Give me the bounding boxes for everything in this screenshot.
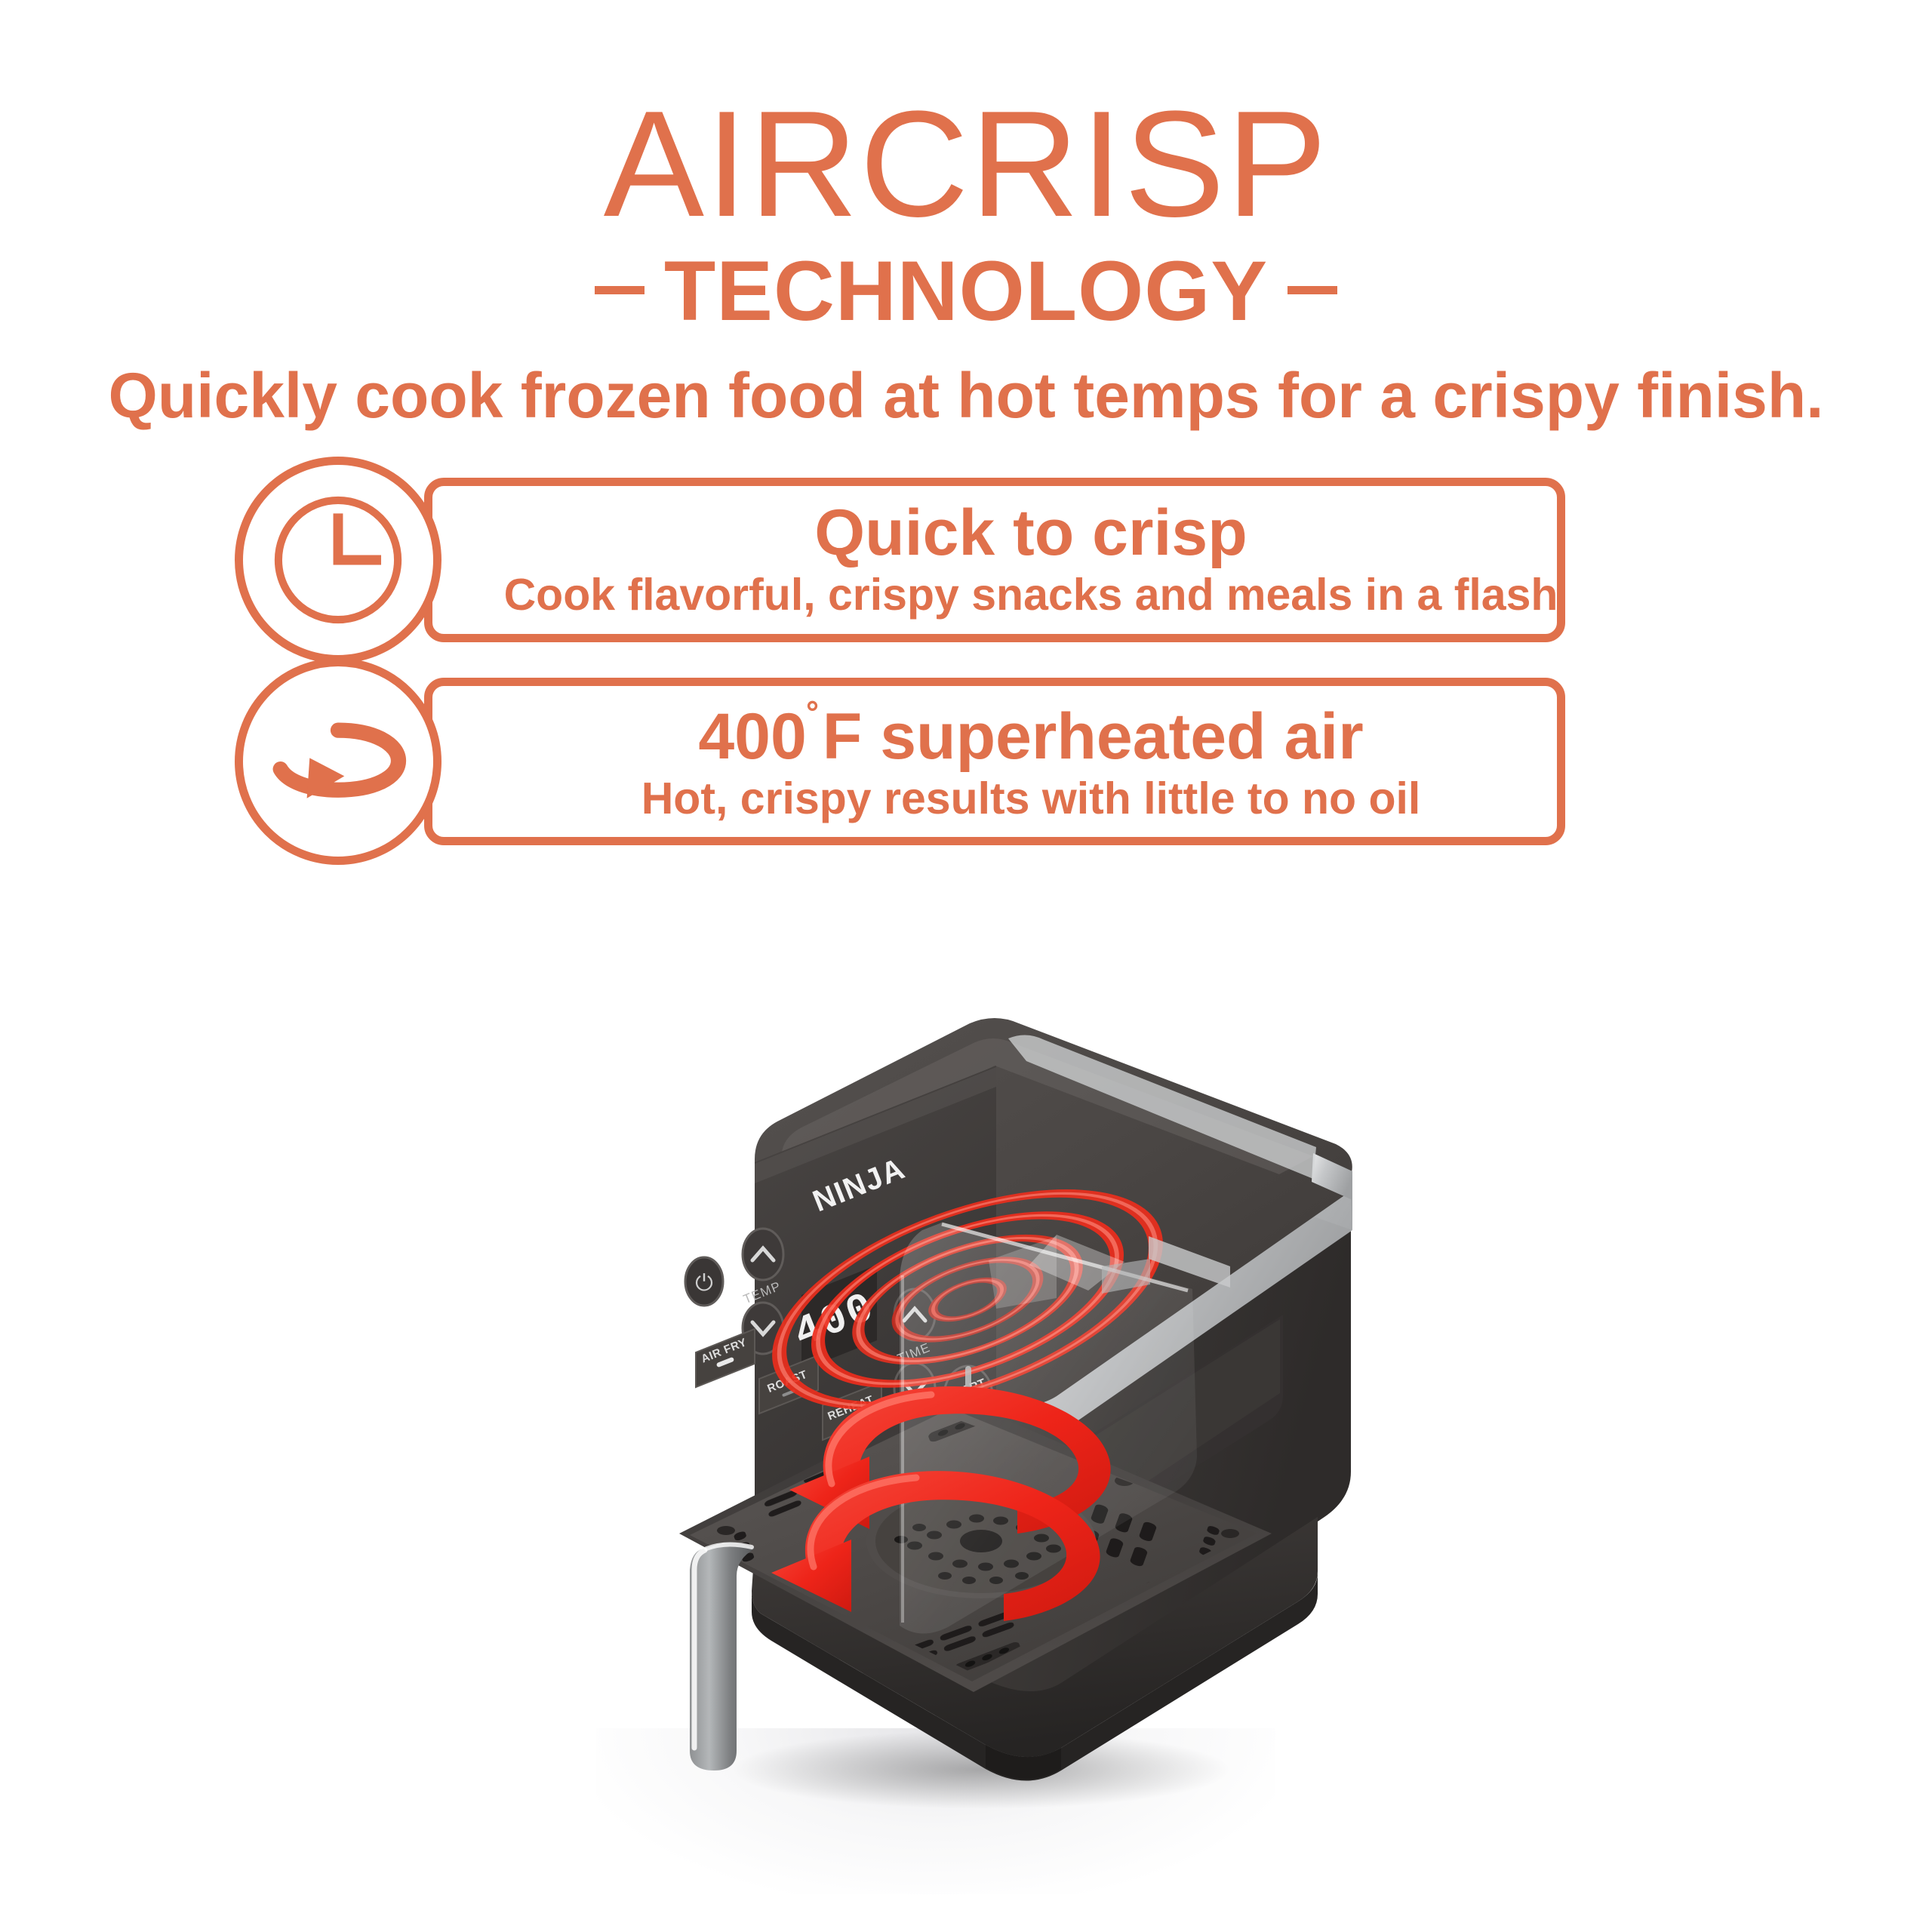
feature-title: Quick to crisp (814, 500, 1247, 565)
technology-label: TECHNOLOGY (664, 244, 1268, 338)
feature-title-suffix: F superheated air (823, 700, 1364, 773)
degree-symbol: ˚ (807, 698, 823, 743)
temp-up-button[interactable] (743, 1229, 783, 1280)
feature-text-block: 400˚F superheated air Hot, crispy result… (531, 686, 1531, 837)
dash-left-decoration (595, 286, 645, 294)
mode-button-air-fry[interactable]: AIR FRY (696, 1329, 755, 1387)
feature-subtitle: Hot, crispy results with little to no oi… (641, 775, 1421, 823)
feature-card-quick-to-crisp: Quick to crisp Cook flavorful, crispy sn… (424, 478, 1565, 642)
feature-subtitle: Cook flavorful, crispy snacks and meals … (504, 571, 1558, 620)
power-button[interactable]: ⏻ (685, 1257, 723, 1306)
infographic-canvas: AIRCRISP TECHNOLOGY Quickly cook frozen … (0, 0, 1932, 1932)
page-subtitle: Quickly cook frozen food at hot temps fo… (0, 364, 1932, 427)
basket-handle[interactable] (690, 1543, 755, 1770)
feature-title: 400˚F superheated air (698, 700, 1363, 769)
page-title: AIRCRISP (0, 89, 1932, 240)
dash-right-decoration (1287, 286, 1337, 294)
svg-text:⏻: ⏻ (695, 1271, 713, 1296)
air-fryer-product-image: NINJA ⏻ TEMP 400 (528, 974, 1381, 1834)
clock-icon (235, 457, 441, 663)
circulating-air-icon (235, 658, 441, 865)
feature-text-block: Quick to crisp Cook flavorful, crispy sn… (531, 486, 1531, 634)
feature-card-superheated-air: 400˚F superheated air Hot, crispy result… (424, 678, 1565, 845)
technology-subheading: TECHNOLOGY (0, 249, 1932, 334)
temperature-value: 400 (698, 700, 807, 773)
